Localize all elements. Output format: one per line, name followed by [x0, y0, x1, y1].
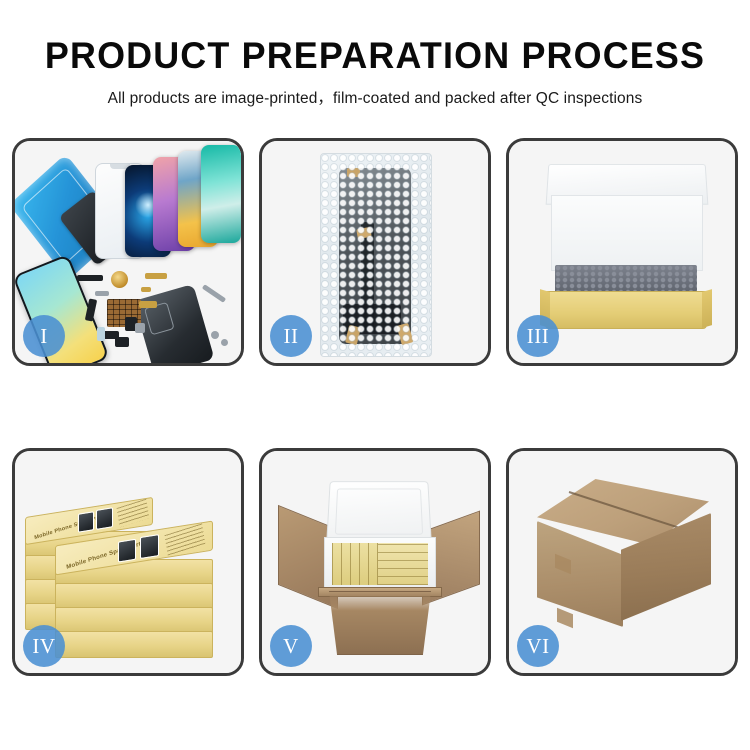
box-thumbnail-icon	[140, 534, 159, 559]
yellow-box-tray-icon	[545, 291, 707, 329]
vibration-motor-icon	[111, 271, 128, 288]
page-header: PRODUCT PREPARATION PROCESS All products…	[0, 0, 750, 108]
screw-icon	[211, 331, 219, 339]
step-badge-1: I	[23, 315, 65, 357]
box-thumbnail-icon	[96, 507, 113, 530]
step-badge-5: V	[270, 625, 312, 667]
process-step-panel-5[interactable]: V	[259, 448, 491, 676]
box-thumbnail-icon	[78, 511, 94, 533]
process-step-panel-2[interactable]: II	[259, 138, 491, 366]
step-badge-4: IV	[23, 625, 65, 667]
spare-part-icon	[95, 291, 109, 296]
process-step-panel-4[interactable]: Mobile Phone Spare Parts Mobile Phone Sp…	[12, 448, 244, 676]
spare-part-icon	[139, 301, 157, 308]
inner-boxes-horizontal-icon	[378, 543, 428, 585]
spare-part-icon	[145, 273, 167, 279]
process-step-panel-1[interactable]: I	[12, 138, 244, 366]
process-step-panel-3[interactable]: III	[506, 138, 738, 366]
process-step-grid: I II III	[12, 138, 738, 676]
step-badge-2: II	[270, 315, 312, 357]
stacked-box	[55, 607, 213, 634]
spare-part-icon	[135, 323, 145, 333]
step-badge-6: VI	[517, 625, 559, 667]
process-step-panel-6[interactable]: VI	[506, 448, 738, 676]
foam-backing-icon	[551, 195, 703, 271]
phone-back-housing-icon	[133, 284, 214, 366]
stacked-box	[55, 631, 213, 658]
spare-part-icon	[77, 275, 103, 281]
stacked-box	[55, 583, 213, 610]
page-subtitle: All products are image-printed，film-coat…	[0, 86, 750, 108]
box-thumbnail-icon	[118, 539, 136, 563]
foam-lid-icon	[326, 481, 432, 543]
screw-icon	[221, 339, 228, 346]
step-badge-3: III	[517, 315, 559, 357]
carton-tape-icon	[557, 608, 573, 628]
tweezers-icon	[202, 284, 226, 303]
page-title: PRODUCT PREPARATION PROCESS	[11, 36, 739, 76]
bubble-wrap-bag-icon	[320, 153, 432, 357]
carton-left-face-icon	[537, 521, 623, 627]
box-spec-lines	[165, 523, 206, 556]
carton-front-panel-icon	[322, 591, 438, 655]
phone-display-teal-icon	[201, 145, 241, 243]
bubble-texture-icon	[321, 154, 431, 356]
box-spec-lines	[117, 499, 150, 528]
spare-part-icon	[141, 287, 151, 292]
spare-part-icon	[97, 327, 105, 341]
spare-part-icon	[115, 337, 129, 347]
